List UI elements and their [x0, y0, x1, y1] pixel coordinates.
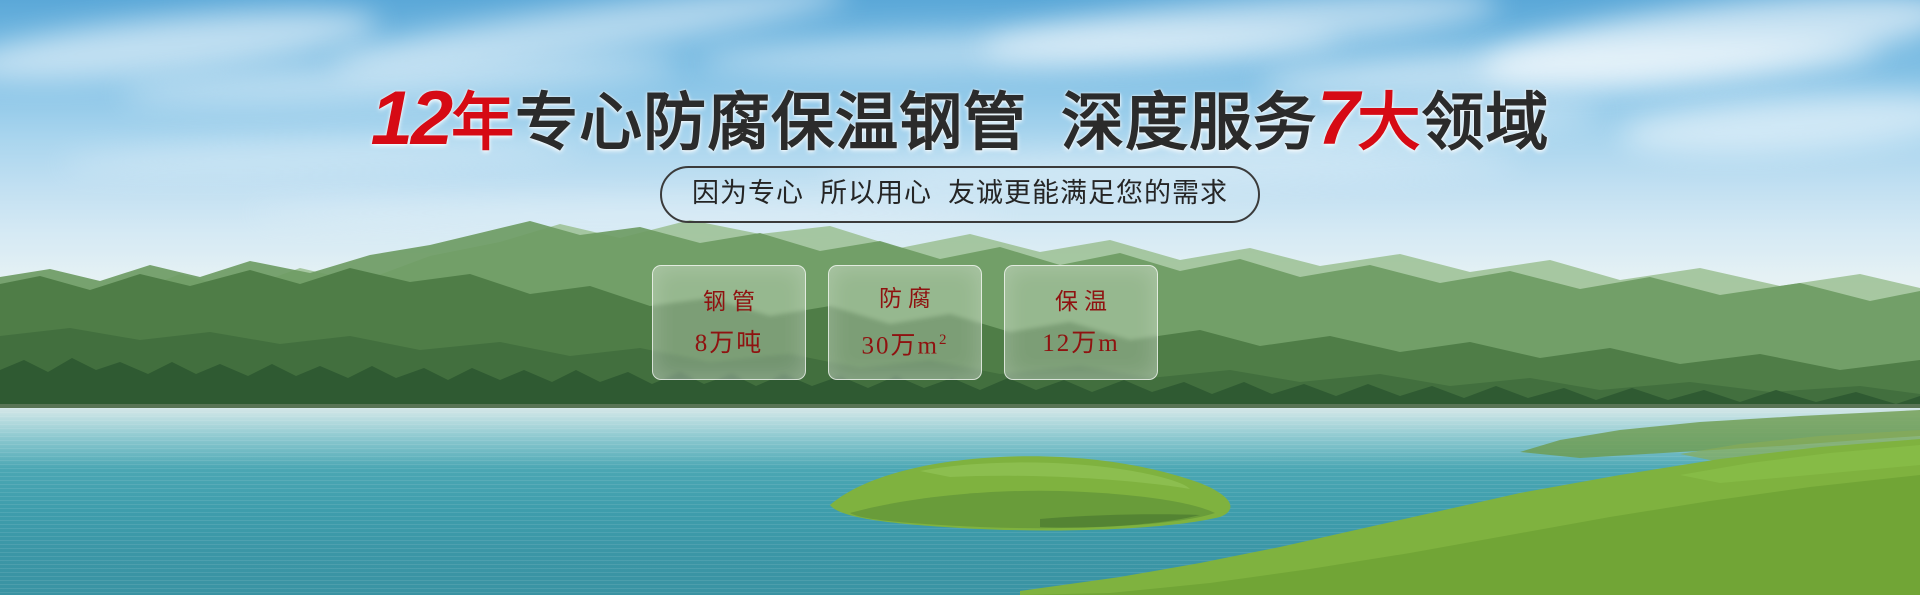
stat-card-label: 防腐 [873, 286, 937, 311]
stat-card-list: 钢管 8万吨 防腐 30万m2 保温 12万m [652, 265, 1158, 380]
headline-main-text: 专心防腐保温钢管 [515, 88, 1027, 158]
headline: 12年专心防腐保温钢管深度服务7大领域 [0, 84, 1920, 158]
stat-card-steel-pipe: 钢管 8万吨 [652, 265, 806, 380]
stat-card-value: 30万m2 [862, 327, 949, 359]
headline-tail-text: 领域 [1421, 88, 1549, 158]
subtitle-part-3: 友诚更能满足您的需求 [948, 178, 1228, 208]
stat-card-insulation: 保温 12万m [1004, 265, 1158, 380]
subtitle-part-2: 所以用心 [820, 178, 932, 208]
promo-banner: 12年专心防腐保温钢管深度服务7大领域 因为专心所以用心友诚更能满足您的需求 钢… [0, 0, 1920, 595]
stat-card-value-text: 12万m [1042, 330, 1119, 357]
stat-card-value: 12万m [1042, 330, 1119, 357]
stat-card-value-text: 8万吨 [695, 330, 764, 357]
stat-card-anticorrosion: 防腐 30万m2 [828, 265, 982, 380]
stat-card-value-exponent: 2 [939, 332, 949, 348]
stat-card-value-text: 30万m [862, 332, 939, 359]
banner-content: 12年专心防腐保温钢管深度服务7大领域 因为专心所以用心友诚更能满足您的需求 钢… [0, 0, 1920, 595]
subtitle-pill: 因为专心所以用心友诚更能满足您的需求 [660, 166, 1260, 223]
stat-card-label: 钢管 [697, 289, 761, 314]
headline-service-text: 深度服务 [1061, 88, 1317, 158]
subtitle-part-1: 因为专心 [692, 178, 804, 208]
headline-fields-number: 7 [1317, 76, 1357, 161]
headline-fields-unit: 大 [1357, 88, 1421, 158]
headline-years-number: 12 [371, 76, 452, 161]
stat-card-value: 8万吨 [695, 330, 764, 357]
stat-card-label: 保温 [1049, 289, 1113, 314]
headline-years-unit: 年 [451, 88, 515, 158]
